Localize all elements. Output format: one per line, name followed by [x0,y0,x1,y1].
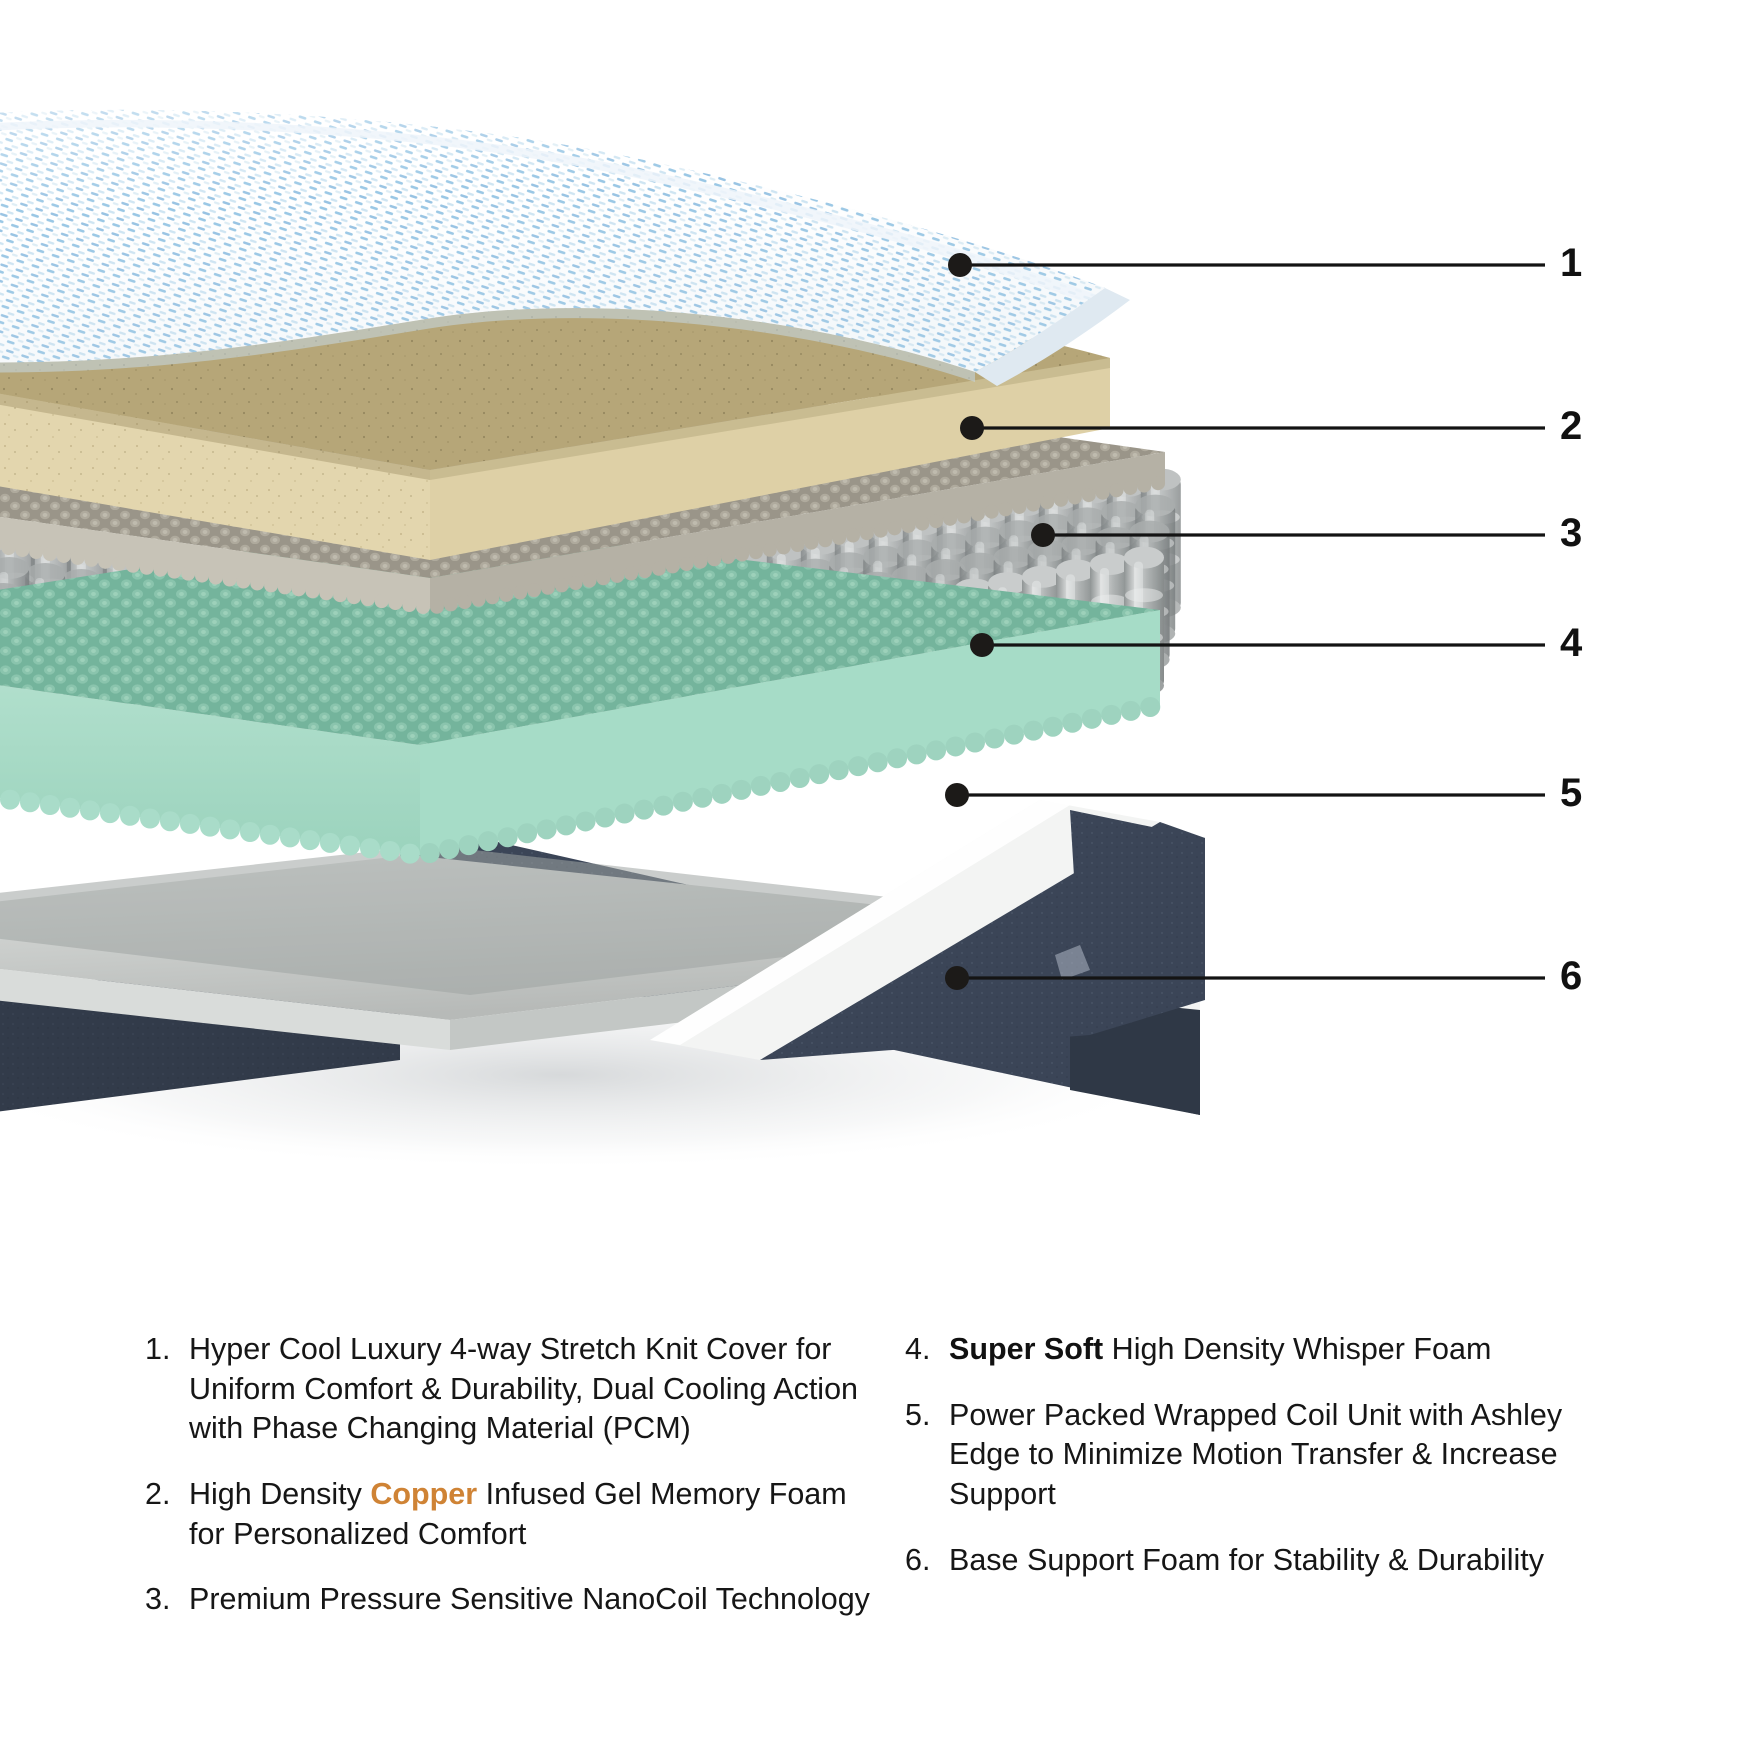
foam-scallop [1082,709,1102,729]
foam-scallop [1012,500,1026,514]
foam-scallop [388,596,402,610]
foam-scallop [770,772,790,792]
foam-scallop [653,796,673,816]
foam-scallop [527,583,541,597]
foam-scallop [915,517,929,531]
foam-scallop [280,827,300,847]
foam-scallop [444,597,458,611]
foam-scallop [220,819,240,839]
foam-scallop [1101,705,1121,725]
callout-number-3: 3 [1560,513,1582,553]
callout-number-5: 5 [1560,773,1582,813]
foam-scallop [420,843,440,863]
foam-scallop [223,573,237,587]
foam-scallop [692,788,712,808]
foam-scallop [965,733,985,753]
legend-item: 5.Power Packed Wrapped Coil Unit with As… [905,1396,1565,1515]
foam-scallop [610,569,624,583]
foam-scallop [1123,481,1137,495]
foam-scallop [29,545,43,559]
callout-number-4: 4 [1560,623,1582,663]
foam-scallop [749,545,763,559]
foam-scallop [0,790,20,810]
foam-scallop [459,835,479,855]
foam-scallop [375,594,389,608]
foam-scallop [595,808,615,828]
foam-scallop [731,780,751,800]
foam-scallop [140,809,160,829]
foam-scallop [400,844,420,864]
foam-scallop [20,792,40,812]
foam-scallop [707,552,721,566]
legend-item: 4.Super Soft High Density Whisper Foam [905,1330,1565,1370]
foam-scallop [957,509,971,523]
foam-scallop [300,830,320,850]
foam-scallop [1109,483,1123,497]
foam-scallop [614,804,634,824]
foam-scallop [712,784,732,804]
foam-scallop [71,551,85,565]
legend-text-part: Hyper Cool Luxury 4-way Stretch Knit Cov… [189,1332,858,1445]
legend-item-text: Power Packed Wrapped Coil Unit with Ashl… [949,1396,1565,1515]
legend-column-right: 4.Super Soft High Density Whisper Foam5.… [885,1330,1585,1646]
legend-item-text: Super Soft High Density Whisper Foam [949,1330,1565,1370]
legend-text-part: High Density [189,1477,370,1511]
foam-scallop [984,729,1004,749]
foam-scallop [666,559,680,573]
foam-scallop [1004,725,1024,745]
foam-scallop [292,582,306,596]
foam-scallop [278,580,292,594]
legend-item-text: Hyper Cool Luxury 4-way Stretch Knit Cov… [189,1330,875,1449]
legend-item: 2.High Density Copper Infused Gel Memory… [145,1475,875,1554]
legend-column-left: 1.Hyper Cool Luxury 4-way Stretch Knit C… [125,1330,895,1646]
foam-scallop [513,586,527,600]
legend-item-number: 1. [145,1330,189,1370]
foam-scallop [1121,701,1141,721]
foam-scallop [537,819,557,839]
foam-scallop [907,744,927,764]
foam-scallop [209,571,223,585]
foam-scallop [380,841,400,861]
legend-item-number: 5. [905,1396,949,1436]
foam-scallop [167,565,181,579]
legend-text-part: High Density Whisper Foam [1103,1332,1491,1366]
foam-scallop [673,792,693,812]
legend-item: 3.Premium Pressure Sensitive NanoCoil Te… [145,1580,875,1620]
foam-scallop [985,505,999,519]
foam-scallop [98,555,112,569]
foam-scallop [180,814,200,834]
legend: 1.Hyper Cool Luxury 4-way Stretch Knit C… [0,1330,1750,1646]
foam-scallop [517,823,537,843]
foam-scallop [320,833,340,853]
callout-number-1: 1 [1560,243,1582,283]
foam-scallop [1068,490,1082,504]
mattress-construction-page: 1 2 3 4 5 6 1.Hyper Cool Luxury 4-way St… [0,0,1750,1750]
foam-scallop [638,564,652,578]
legend-item-number: 4. [905,1330,949,1370]
foam-scallop [360,838,380,858]
foam-scallop [971,507,985,521]
foam-scallop [818,533,832,547]
callout-number-6: 6 [1560,956,1582,996]
foam-scallop [80,800,100,820]
foam-scallop [943,512,957,526]
foam-scallop [888,521,902,535]
legend-text-part: Base Support Foam for Stability & Durabi… [949,1543,1544,1577]
foam-scallop [2,541,16,555]
legend-text-part: Copper [370,1477,477,1511]
foam-scallop [140,561,154,575]
foam-scallop [1096,486,1110,500]
foam-scallop [887,748,907,768]
foam-scallop [809,764,829,784]
foam-scallop [120,806,140,826]
foam-scallop [1054,493,1068,507]
foam-scallop [804,536,818,550]
mattress-cutaway-illustration: 1 2 3 4 5 6 [0,0,1750,1200]
foam-scallop [582,574,596,588]
foam-scallop [43,547,57,561]
foam-scallop [1137,479,1151,493]
foam-scallop [181,567,195,581]
foam-scallop [652,562,666,576]
legend-text-part: Premium Pressure Sensitive NanoCoil Tech… [189,1582,870,1616]
foam-scallop [763,543,777,557]
foam-scallop [999,502,1013,516]
foam-scallop [680,557,694,571]
callout-dot-1 [948,253,972,277]
foam-scallop [430,600,444,614]
foam-scallop [1140,697,1160,717]
foam-scallop [333,588,347,602]
foam-scallop [264,578,278,592]
foam-scallop [416,600,430,614]
legend-item-text: Premium Pressure Sensitive NanoCoil Tech… [189,1580,875,1620]
foam-scallop [1026,498,1040,512]
foam-scallop [541,581,555,595]
foam-scallop [485,590,499,604]
foam-scallop [569,576,583,590]
foam-scallop [499,588,513,602]
foam-scallop [319,586,333,600]
foam-scallop [846,528,860,542]
legend-item-number: 3. [145,1580,189,1620]
foam-scallop [195,569,209,583]
legend-item: 6.Base Support Foam for Stability & Dura… [905,1541,1565,1581]
legend-item-text: High Density Copper Infused Gel Memory F… [189,1475,875,1554]
foam-scallop [1082,488,1096,502]
foam-scallop [340,836,360,856]
foam-scallop [236,574,250,588]
foam-scallop [458,595,472,609]
foam-scallop [556,815,576,835]
foam-scallop [721,550,735,564]
legend-item-number: 6. [905,1541,949,1581]
foam-scallop [200,817,220,837]
foam-scallop [84,553,98,567]
callout-dot-3 [1031,523,1055,547]
foam-scallop [929,514,943,528]
callout-number-2: 2 [1560,406,1582,446]
foam-scallop [777,540,791,554]
legend-item: 1.Hyper Cool Luxury 4-way Stretch Knit C… [145,1330,875,1449]
foam-scallop [1062,713,1082,733]
callout-dot-4 [970,633,994,657]
foam-scallop [306,584,320,598]
legend-text-part: Super Soft [949,1332,1103,1366]
foam-scallop [1040,495,1054,509]
foam-scallop [478,831,498,851]
foam-scallop [832,531,846,545]
foam-scallop [250,576,264,590]
foam-scallop [946,736,966,756]
mattress-layers-svg [0,0,1750,1200]
foam-scallop [57,549,71,563]
foam-scallop [160,811,180,831]
foam-scallop [926,740,946,760]
callout-dot-6 [945,966,969,990]
foam-scallop [126,559,140,573]
foam-scallop [901,519,915,533]
legend-text-part: Power Packed Wrapped Coil Unit with Ashl… [949,1398,1562,1511]
foam-scallop [1043,717,1063,737]
callout-dot-2 [960,416,984,440]
foam-scallop [874,524,888,538]
foam-scallop [472,593,486,607]
foam-scallop [860,526,874,540]
foam-scallop [240,822,260,842]
foam-scallop [576,811,596,831]
foam-scallop [154,563,168,577]
foam-scallop [791,538,805,552]
foam-scallop [555,578,569,592]
foam-scallop [868,752,888,772]
foam-scallop [498,827,518,847]
foam-scallop [829,760,849,780]
foam-scallop [439,839,459,859]
foam-scallop [634,800,654,820]
foam-scallop [402,598,416,612]
foam-scallop [100,803,120,823]
legend-item-text: Base Support Foam for Stability & Durabi… [949,1541,1565,1581]
foam-scallop [790,768,810,788]
foam-scallop [624,567,638,581]
legend-item-number: 2. [145,1475,189,1515]
foam-scallop [60,798,80,818]
foam-scallop [260,825,280,845]
foam-scallop [751,776,771,796]
foam-scallop [112,557,126,571]
foam-scallop [1151,476,1165,490]
foam-scallop [40,795,60,815]
foam-scallop [596,571,610,585]
callout-dot-5 [945,783,969,807]
foam-scallop [848,756,868,776]
foam-scallop [347,590,361,604]
foam-scallop [693,555,707,569]
foam-scallop [1023,721,1043,741]
foam-scallop [735,548,749,562]
foam-scallop [15,543,29,557]
foam-scallop [361,592,375,606]
